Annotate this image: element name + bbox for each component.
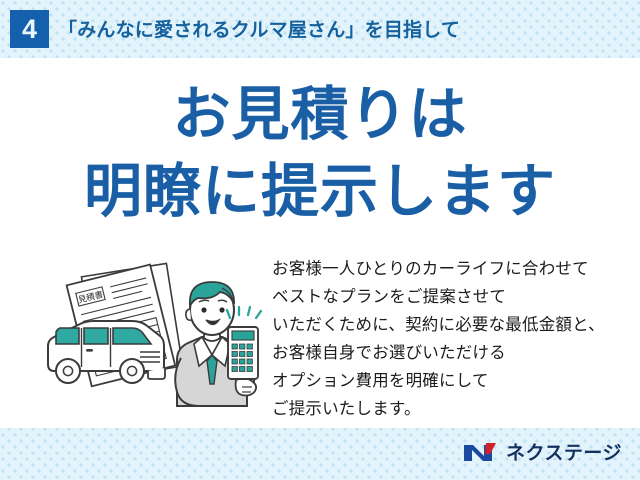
body-line: いただくために、契約に必要な最低金額と、 bbox=[272, 311, 640, 339]
headline-line-2: 明瞭に提示します bbox=[0, 163, 640, 221]
promo-banner: 4 「みんなに愛されるクルマ屋さん」を目指して お見積りは 明瞭に提示します お… bbox=[0, 0, 640, 480]
banner-header: 4 「みんなに愛されるクルマ屋さん」を目指して bbox=[0, 0, 640, 58]
body-copy: お客様一人ひとりのカーライフに合わせて ベストなプランをご提案させて いただくた… bbox=[272, 255, 640, 423]
body-line: ご提示いたします。 bbox=[272, 395, 640, 423]
nextstage-logo-mark bbox=[462, 440, 499, 464]
body-line: お客様一人ひとりのカーライフに合わせて bbox=[272, 255, 640, 283]
nextstage-logo: ネクステージ bbox=[462, 438, 622, 465]
banner-footer: ネクステージ bbox=[0, 428, 640, 480]
headline-line-1: お見積りは bbox=[0, 86, 640, 144]
body-line: ベストなプランをご提案させて bbox=[272, 283, 640, 311]
nextstage-logo-text: ネクステージ bbox=[506, 438, 622, 465]
body-line: お客様自身でお選びいただける bbox=[272, 339, 640, 367]
calculator-illustration bbox=[228, 327, 258, 379]
section-number-badge: 4 bbox=[10, 10, 49, 48]
sales-staff-illustration: 見積書 bbox=[36, 254, 268, 414]
header-title: 「みんなに愛されるクルマ屋さん」を目指して bbox=[58, 15, 460, 42]
content-card: お見積りは 明瞭に提示します お客様一人ひとりのカーライフに合わせて ベストなプ… bbox=[0, 58, 640, 428]
body-line: オプション費用を明確にして bbox=[272, 367, 640, 395]
